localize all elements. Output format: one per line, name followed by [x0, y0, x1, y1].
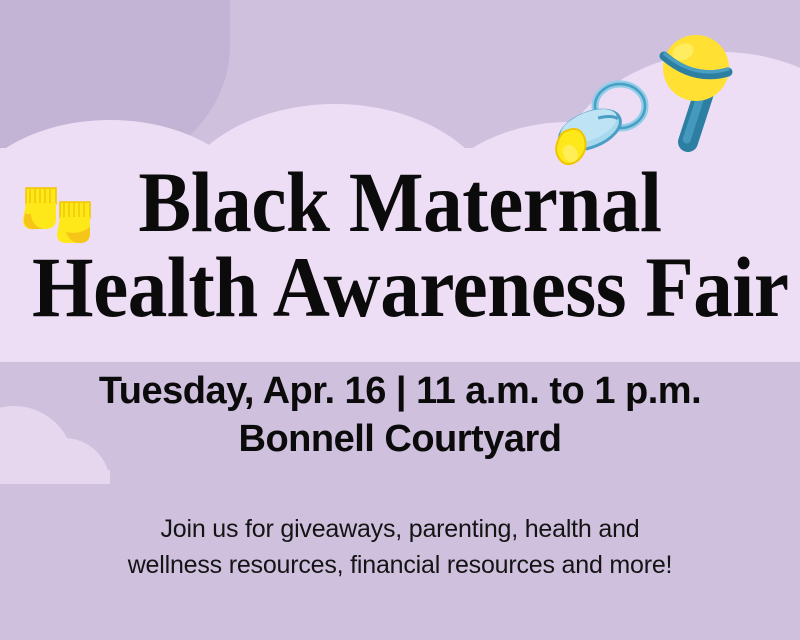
headline-line-1: Black Maternal	[32, 160, 768, 245]
event-date-time: Tuesday, Apr. 16 | 11 a.m. to 1 p.m.	[0, 368, 800, 416]
description-line-2: wellness resources, financial resources …	[0, 548, 800, 584]
event-details: Tuesday, Apr. 16 | 11 a.m. to 1 p.m. Bon…	[0, 368, 800, 463]
description-line-1: Join us for giveaways, parenting, health…	[0, 512, 800, 548]
flyer-poster: Black Maternal Health Awareness Fair Tue…	[0, 0, 800, 640]
event-description: Join us for giveaways, parenting, health…	[0, 512, 800, 583]
page-title: Black Maternal Health Awareness Fair	[32, 160, 768, 330]
baby-rattle-icon	[630, 22, 748, 158]
lower-left-cloud-base	[0, 470, 110, 484]
headline-line-2: Health Awareness Fair	[32, 245, 768, 330]
event-location: Bonnell Courtyard	[0, 416, 800, 464]
